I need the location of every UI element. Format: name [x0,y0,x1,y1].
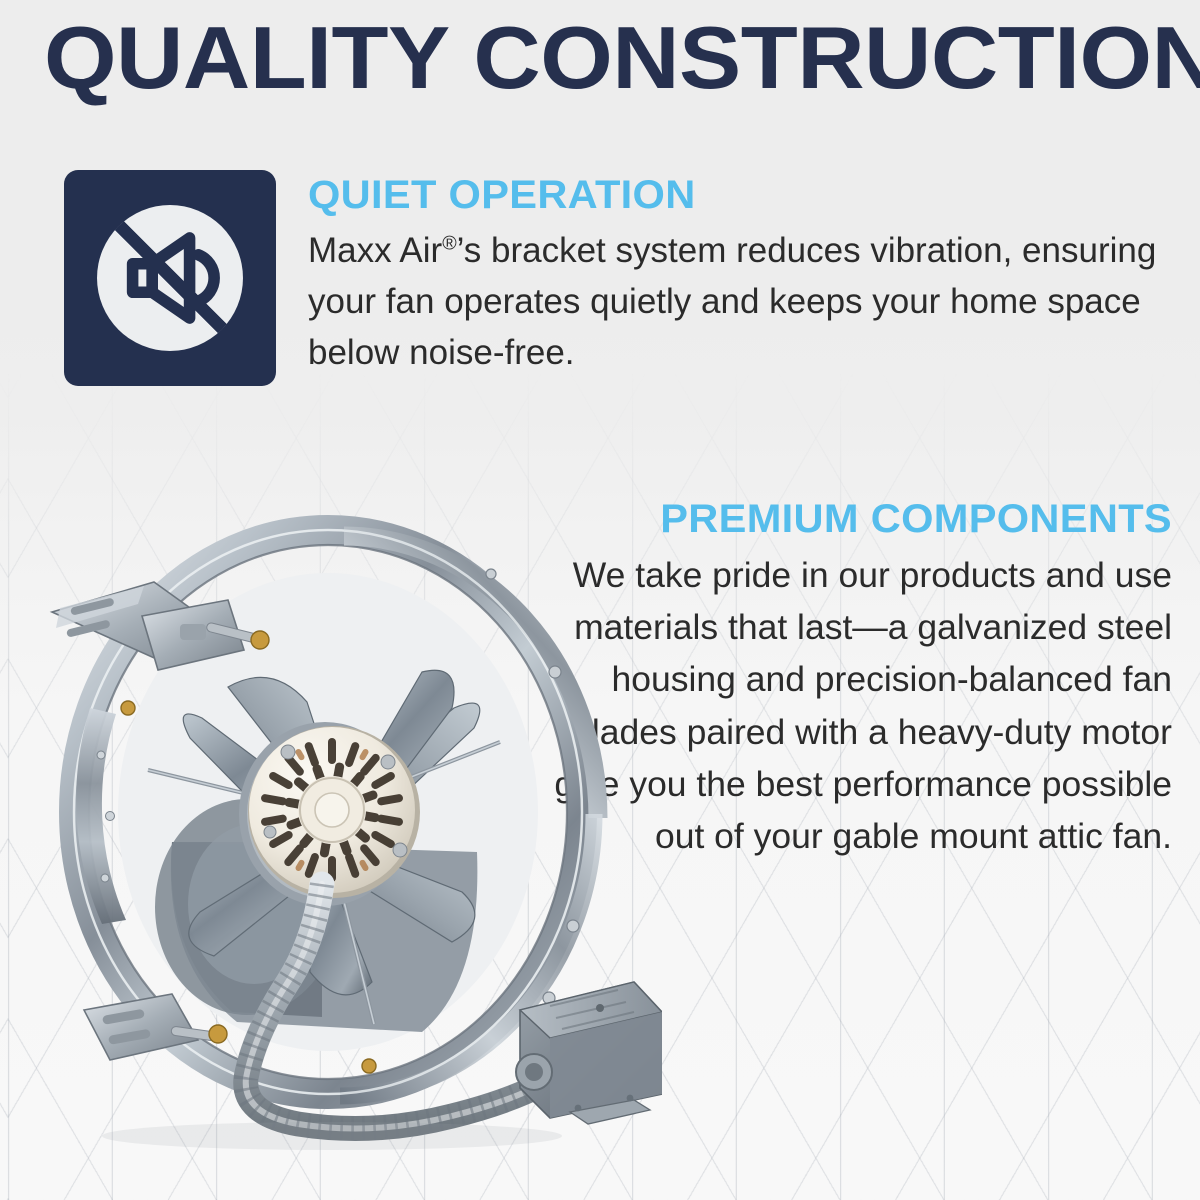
mounting-bracket-top [52,582,269,670]
support-strut-group [148,742,500,1024]
registered-trademark-symbol: ® [442,232,456,254]
feature-block-premium-components: PREMIUM COMPONENTS We take pride in our … [512,498,1172,862]
quiet-operation-text: QUIET OPERATION Maxx Air®’s bracket syst… [308,170,1188,378]
feature-block-quiet-operation: QUIET OPERATION Maxx Air®’s bracket syst… [64,170,1174,386]
motor-housing [248,726,420,898]
feature-body-quiet-operation: Maxx Air®’s bracket system reduces vibra… [308,225,1188,378]
page-title: QUALITY CONSTRUCTION [44,14,1200,102]
icon-tile-quiet-operation [64,170,276,386]
feature-body-premium-components: We take pride in our products and use ma… [512,549,1172,862]
infographic-page: QUALITY CONSTRUCTION [0,0,1200,1200]
housing-band-overlap [76,708,126,924]
flexible-conduit [246,884,542,1129]
motor-mount-plate [239,722,411,906]
mounting-bracket-bottom [84,994,227,1060]
junction-box [516,982,662,1124]
fan-shroud [118,573,538,1051]
motor-vent-slots [260,738,403,882]
fan-blade-group [183,670,480,995]
feature-heading-quiet-operation: QUIET OPERATION [308,174,1200,216]
feature-heading-premium-components: PREMIUM COMPONENTS [486,498,1172,540]
band-fastener-group [121,569,579,1073]
body-prefix: Maxx Air [308,231,442,270]
muted-speaker-icon [81,189,259,367]
